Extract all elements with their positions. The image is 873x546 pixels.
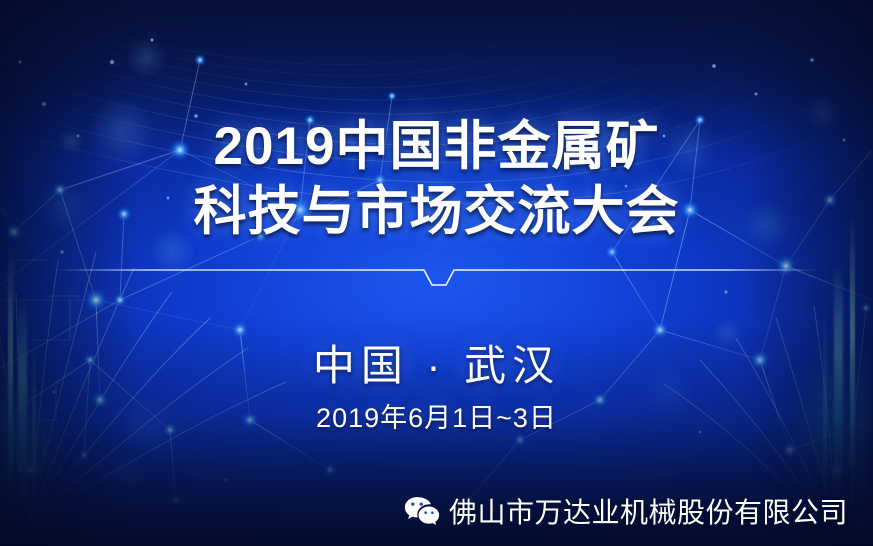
title-line-1: 2019中国非金属矿: [0, 118, 873, 175]
date-text: 2019年6月1日~3日: [0, 396, 873, 435]
location-text: 中国 · 武汉: [0, 332, 873, 393]
conference-poster: 2019中国非金属矿 科技与市场交流大会 中国 · 武汉: [0, 0, 873, 546]
title-line-2: 科技与市场交流大会: [0, 183, 873, 240]
footer-branding: 佛山市万达业机械股份有限公司: [404, 491, 848, 531]
divider-ornament: [0, 255, 873, 297]
company-name: 佛山市万达业机械股份有限公司: [449, 491, 848, 531]
poster-title: 2019中国非金属矿 科技与市场交流大会: [0, 118, 873, 240]
wechat-icon: [404, 496, 440, 527]
